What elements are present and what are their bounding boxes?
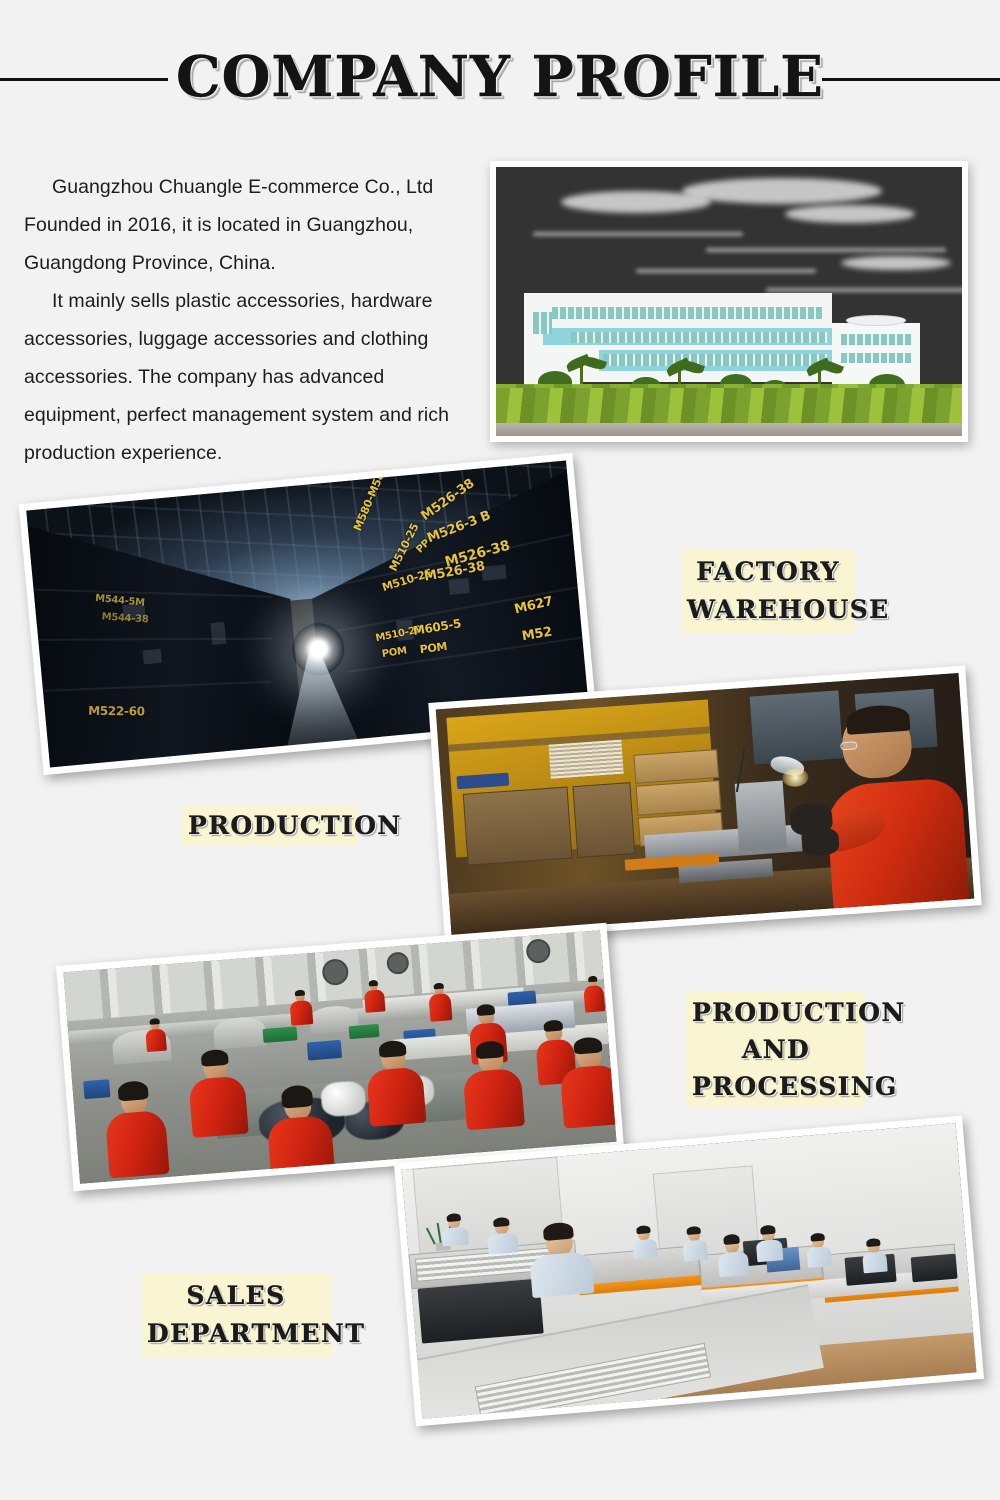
caption-factory-warehouse: FACTORY WAREHOUSE bbox=[681, 549, 855, 633]
intro-paragraph-2: Founded in 2016, it is located in Guangz… bbox=[24, 206, 476, 282]
caption-line: SALES bbox=[147, 1277, 325, 1315]
caption-line: DEPARTMENT bbox=[147, 1315, 325, 1353]
worker-figure bbox=[458, 1043, 528, 1126]
office-person bbox=[803, 1234, 833, 1266]
office-person bbox=[524, 1224, 597, 1295]
worker-figure bbox=[426, 984, 455, 1022]
caption-production: PRODUCTION bbox=[182, 806, 358, 846]
caption-line: PRODUCTION bbox=[188, 808, 352, 844]
intro-paragraph-3: It mainly sells plastic accessories, har… bbox=[24, 282, 476, 472]
worker-figure bbox=[100, 1083, 173, 1174]
worker-figure bbox=[582, 977, 607, 1013]
caption-production-and-processing: PRODUCTION AND PROCESSING bbox=[686, 991, 866, 1108]
caption-sales-department: SALES DEPARTMENT bbox=[141, 1273, 331, 1357]
office-person bbox=[859, 1239, 889, 1271]
caption-line: PROCESSING bbox=[692, 1068, 860, 1105]
worker-figure bbox=[262, 1087, 339, 1180]
office-person bbox=[680, 1227, 710, 1259]
office-person bbox=[714, 1236, 751, 1275]
sales-office-image bbox=[402, 1123, 977, 1419]
assembly-line-image bbox=[64, 930, 617, 1184]
mold-tag: M522-60 bbox=[88, 704, 145, 719]
photo-production bbox=[428, 666, 981, 943]
caption-line: WAREHOUSE bbox=[687, 591, 849, 629]
worker-figure bbox=[143, 1020, 169, 1052]
worker-figure bbox=[286, 991, 314, 1025]
office-person bbox=[630, 1226, 660, 1256]
photo-sales-department bbox=[394, 1116, 984, 1427]
caption-line: FACTORY bbox=[687, 553, 849, 591]
office-person bbox=[439, 1214, 471, 1244]
factory-building-image bbox=[496, 167, 962, 436]
page-header: COMPANY PROFILE bbox=[0, 0, 1000, 140]
worker-figure bbox=[183, 1052, 251, 1135]
company-intro: Guangzhou Chuangle E-commerce Co., Ltd F… bbox=[24, 168, 476, 472]
office-person bbox=[484, 1218, 521, 1253]
intro-paragraph-1: Guangzhou Chuangle E-commerce Co., Ltd bbox=[24, 168, 476, 206]
worker-figure bbox=[361, 981, 387, 1013]
caption-line: PRODUCTION bbox=[692, 994, 860, 1031]
worker-figure bbox=[361, 1042, 429, 1123]
photo-factory-building bbox=[490, 161, 968, 442]
office-person bbox=[752, 1226, 785, 1260]
caption-line: AND bbox=[692, 1031, 860, 1068]
production-image bbox=[436, 673, 974, 935]
page-title: COMPANY PROFILE bbox=[0, 42, 1000, 112]
worker-figure bbox=[555, 1039, 617, 1124]
